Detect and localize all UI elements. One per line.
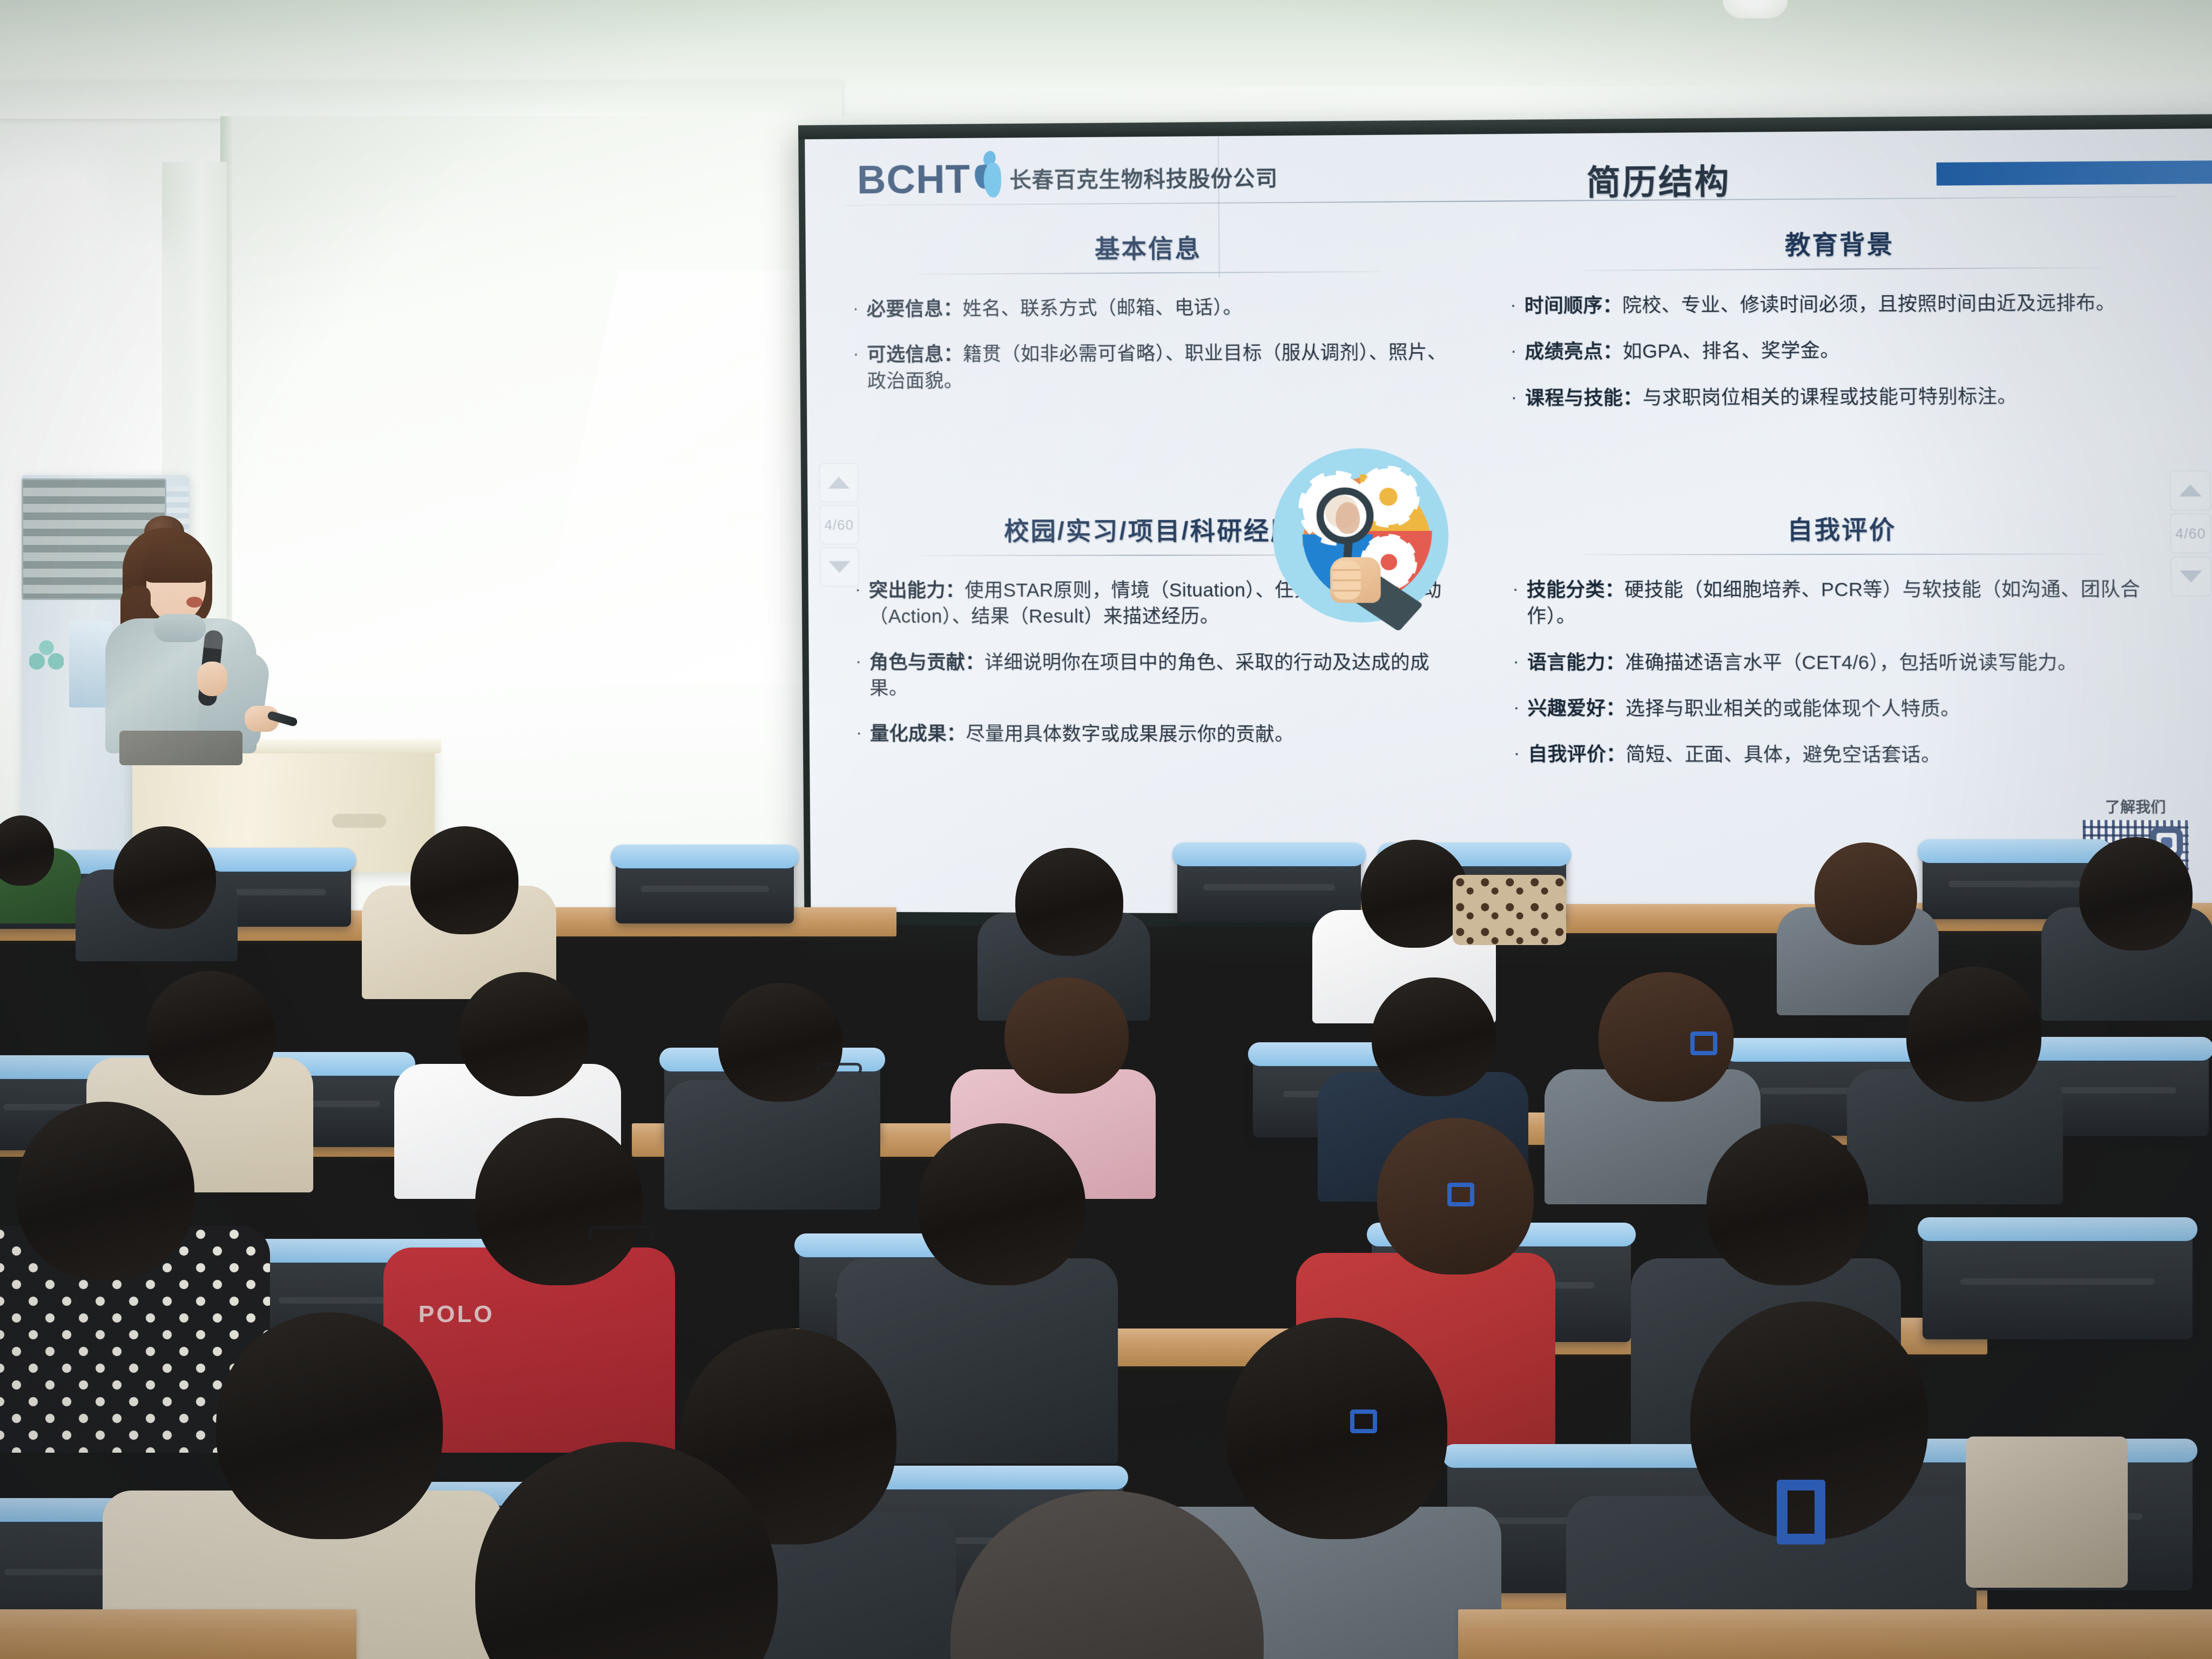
triangle-down-icon bbox=[2180, 570, 2202, 583]
section-heading: 自我评价 bbox=[1512, 509, 2175, 547]
triangle-up-icon bbox=[828, 477, 849, 489]
bullet-label: 成绩亮点： bbox=[1525, 341, 1622, 362]
jacket-text: POLO bbox=[419, 1301, 495, 1328]
presenter-hand-holding-mic bbox=[197, 662, 227, 696]
bullet-body: 尽量用具体数字或成果展示你的贡献。 bbox=[966, 724, 1294, 745]
seat bbox=[1923, 1226, 2193, 1339]
bullet-body: 与求职岗位相关的课程或技能可特别标注。 bbox=[1642, 386, 2017, 408]
bullet-dot-icon: · bbox=[853, 296, 867, 322]
person-head bbox=[146, 971, 275, 1095]
magnifier-lens-content bbox=[1336, 502, 1360, 534]
glasses-icon bbox=[817, 1063, 862, 1075]
bullet-label: 语言能力： bbox=[1527, 652, 1625, 673]
triangle-down-icon bbox=[828, 561, 850, 573]
desk bbox=[1458, 1609, 2212, 1659]
section-heading: 教育背景 bbox=[1509, 222, 2173, 262]
bullet-dot-icon: · bbox=[1513, 696, 1528, 722]
person-head bbox=[16, 1102, 194, 1280]
hair-clip bbox=[1690, 1031, 1717, 1055]
bullet-body: 如GPA、排名、奖学金。 bbox=[1622, 340, 1839, 362]
page-indicator-left: 4/60 bbox=[820, 505, 859, 544]
person-head bbox=[475, 1118, 643, 1285]
list-item: · 必要信息：姓名、联系方式（邮箱、电话）。 bbox=[853, 294, 1448, 323]
list-item: · 兴趣爱好：选择与职业相关的或能体现个人特质。 bbox=[1513, 696, 2176, 723]
person-head bbox=[1906, 967, 2041, 1102]
bullet-body: 选择与职业相关的或能体现个人特质。 bbox=[1626, 698, 1960, 719]
bullet-dot-icon: · bbox=[855, 650, 870, 702]
bullet-dot-icon: · bbox=[1510, 293, 1525, 320]
section-basic-info: 基本信息 · 必要信息：姓名、联系方式（邮箱、电话）。 · 可选信息：籍贯（如非… bbox=[852, 227, 1448, 414]
list-item: · 课程与技能：与求职岗位相关的课程或技能可特别标注。 bbox=[1510, 383, 2174, 412]
bullet-label: 必要信息： bbox=[867, 298, 963, 320]
list-item: · 时间顺序：院校、专业、修读时间必须，且按照时间由近及远排布。 bbox=[1510, 290, 2173, 320]
person-head bbox=[1004, 977, 1129, 1094]
page-up-button-right[interactable] bbox=[2170, 470, 2211, 510]
header-divider bbox=[843, 196, 2177, 206]
list-item: · 语言能力：准确描述语言水平（CET4/6），包括听说读写能力。 bbox=[1513, 650, 2176, 676]
bullet-dot-icon: · bbox=[1510, 339, 1525, 366]
bullet-dot-icon: · bbox=[1510, 385, 1525, 412]
slide-header: BCHT 长春百克生物科技股份公司 简历结构 bbox=[805, 129, 2212, 210]
list-item: · 角色与贡献：详细说明你在项目中的角色、采取的行动及达成的成果。 bbox=[855, 650, 1451, 703]
company-logo: BCHT 长春百克生物科技股份公司 bbox=[857, 149, 1278, 198]
presenter-fringe bbox=[142, 544, 212, 583]
logo-wordmark: BCHT bbox=[857, 161, 971, 198]
bullet-label: 技能分类： bbox=[1527, 579, 1624, 601]
person-head bbox=[1707, 1123, 1869, 1285]
hand-fingers bbox=[1332, 561, 1361, 600]
page-nav-left[interactable]: 4/60 bbox=[819, 463, 859, 586]
bullet-body: 院校、专业、修读时间必须，且按照时间由近及远排布。 bbox=[1622, 292, 2116, 316]
ceiling-light bbox=[1723, 0, 1788, 18]
bullet-label: 量化成果： bbox=[870, 723, 966, 744]
magnifier-icon bbox=[1316, 488, 1374, 544]
bullet-label: 时间顺序： bbox=[1525, 295, 1622, 316]
handbag bbox=[1966, 1437, 2128, 1588]
triangle-up-icon bbox=[2179, 484, 2202, 497]
person-head bbox=[0, 815, 54, 886]
person-head bbox=[918, 1123, 1085, 1285]
ceiling-beam bbox=[0, 81, 842, 119]
slide-title: 简历结构 bbox=[1586, 154, 1730, 204]
person-head bbox=[1015, 848, 1123, 956]
hair-clip bbox=[1777, 1480, 1825, 1545]
section-bullet-list: · 技能分类：硬技能（如细胞培养、PCR等）与软技能（如沟通、团队合作）。 · … bbox=[1512, 577, 2176, 770]
list-item: · 可选信息：籍贯（如非必需可省略）、职业目标（服从调剂）、照片、政治面貌。 bbox=[853, 340, 1448, 395]
presenter-speaker bbox=[95, 516, 273, 770]
person-head bbox=[1372, 977, 1496, 1096]
bcht-logo-mark bbox=[973, 151, 1003, 198]
bullet-label: 课程与技能： bbox=[1525, 387, 1643, 409]
section-divider bbox=[1582, 267, 2099, 271]
bullet-dot-icon: · bbox=[856, 721, 870, 747]
section-divider bbox=[1584, 554, 2102, 555]
bullet-label: 兴趣爱好： bbox=[1528, 698, 1626, 719]
bullet-dot-icon: · bbox=[853, 342, 867, 395]
ac-brand-logo bbox=[29, 632, 64, 670]
list-item: · 量化成果：尽量用具体数字或成果展示你的贡献。 bbox=[856, 721, 1451, 748]
person-head bbox=[459, 972, 589, 1096]
hair-clip bbox=[1447, 1183, 1474, 1206]
page-down-button-right[interactable] bbox=[2170, 557, 2211, 597]
handbag bbox=[1453, 875, 1566, 945]
page-indicator-right: 4/60 bbox=[2170, 514, 2211, 554]
page-nav-right[interactable]: 4/60 bbox=[2170, 470, 2211, 596]
magnifier-gears-icon bbox=[1272, 448, 1449, 623]
section-heading: 基本信息 bbox=[852, 227, 1447, 267]
list-item: · 技能分类：硬技能（如细胞培养、PCR等）与软技能（如沟通、团队合作）。 bbox=[1512, 577, 2175, 630]
lecture-hall-scene: BCHT 长春百克生物科技股份公司 简历结构 基本信息 · bbox=[0, 0, 2212, 1659]
page-up-button[interactable] bbox=[819, 463, 859, 502]
bullet-label: 可选信息： bbox=[867, 344, 963, 366]
ceiling bbox=[0, 0, 2212, 86]
bullet-body: 姓名、联系方式（邮箱、电话）。 bbox=[962, 297, 1242, 320]
company-name-cn: 长春百克生物科技股份公司 bbox=[1009, 161, 1278, 198]
hair-clip bbox=[1350, 1410, 1377, 1433]
person-head bbox=[410, 826, 518, 934]
bullet-label: 突出能力： bbox=[869, 580, 965, 601]
header-accent-bar bbox=[1937, 160, 2212, 185]
desk bbox=[0, 1609, 356, 1659]
bullet-body: 准确描述语言水平（CET4/6），包括听说读写能力。 bbox=[1625, 652, 2078, 673]
person-head bbox=[216, 1312, 443, 1539]
glasses-icon bbox=[589, 1226, 653, 1242]
person-head bbox=[718, 983, 842, 1102]
section-divider bbox=[917, 271, 1381, 275]
presenter-mouth bbox=[186, 597, 203, 608]
section-education: 教育背景 · 时间顺序：院校、专业、修读时间必须，且按照时间由近及远排布。 · … bbox=[1509, 222, 2174, 431]
person-head bbox=[1226, 1318, 1447, 1539]
page-down-button[interactable] bbox=[820, 548, 859, 586]
list-item: · 成绩亮点：如GPA、排名、奖学金。 bbox=[1510, 336, 2174, 366]
person-head bbox=[113, 826, 216, 929]
person-head bbox=[1815, 842, 1917, 945]
audience-area: POLO bbox=[0, 745, 2212, 1659]
bullet-label: 角色与贡献： bbox=[869, 652, 984, 673]
bullet-dot-icon: · bbox=[1512, 577, 1527, 630]
presenter-collar bbox=[154, 614, 206, 642]
person-head bbox=[2079, 837, 2193, 950]
seat bbox=[616, 853, 794, 923]
section-bullet-list: · 时间顺序：院校、专业、修读时间必须，且按照时间由近及远排布。 · 成绩亮点：… bbox=[1510, 290, 2174, 412]
section-bullet-list: · 必要信息：姓名、联系方式（邮箱、电话）。 · 可选信息：籍贯（如非必需可省略… bbox=[853, 294, 1448, 395]
bullet-dot-icon: · bbox=[1513, 650, 1527, 676]
